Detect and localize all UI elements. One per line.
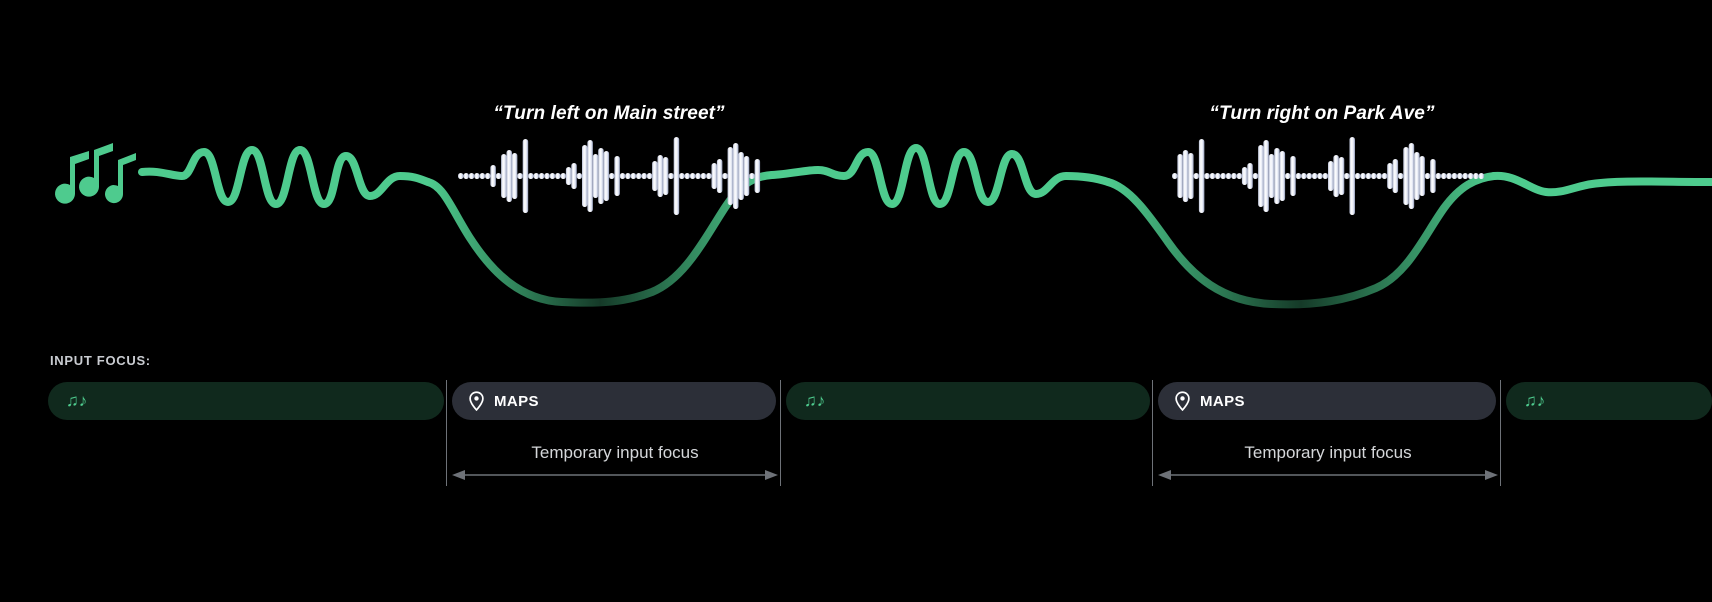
caption-left: “Turn left on Main street” bbox=[493, 103, 724, 125]
music-notes-icon: ♫♪ bbox=[804, 392, 825, 409]
chip-maps[interactable]: MAPS bbox=[1158, 382, 1496, 420]
wave-segment-active-1 bbox=[142, 150, 428, 204]
chip-maps-label: MAPS bbox=[1200, 393, 1245, 410]
speech-bars-group-1 bbox=[458, 137, 760, 215]
input-focus-heading: INPUT FOCUS: bbox=[50, 353, 151, 368]
temporary-input-focus-arrow bbox=[1158, 468, 1498, 482]
temporary-input-focus-arrow bbox=[452, 468, 778, 482]
map-pin-icon bbox=[1174, 391, 1191, 411]
focus-boundary-divider bbox=[1500, 380, 1501, 486]
caption-right: “Turn right on Park Ave” bbox=[1209, 103, 1434, 125]
temporary-input-focus-label: Temporary input focus bbox=[1244, 443, 1411, 463]
speech-bars-group-2 bbox=[1172, 137, 1484, 215]
illustration-canvas: “Turn left on Main street” “Turn right o… bbox=[0, 0, 1712, 602]
chip-maps-label: MAPS bbox=[494, 393, 539, 410]
map-pin-icon bbox=[468, 391, 485, 411]
chip-music[interactable]: ♫♪ bbox=[1506, 382, 1712, 420]
chip-maps[interactable]: MAPS bbox=[452, 382, 776, 420]
chip-music[interactable]: ♫♪ bbox=[48, 382, 444, 420]
music-notes-icon: ♫♪ bbox=[1524, 392, 1545, 409]
chip-music[interactable]: ♫♪ bbox=[786, 382, 1150, 420]
wave-segment-ducked-2 bbox=[1108, 176, 1494, 304]
focus-boundary-divider bbox=[780, 380, 781, 486]
focus-boundary-divider bbox=[446, 380, 447, 486]
input-focus-track: ♫♪MAPS♫♪MAPS♫♪ bbox=[0, 382, 1712, 420]
music-notes-icon: ♫♪ bbox=[66, 392, 87, 409]
wave-segment-active-3 bbox=[1494, 176, 1712, 192]
audio-waveform-graphic bbox=[0, 0, 1712, 330]
wave-segment-active-2 bbox=[772, 148, 1108, 204]
temporary-input-focus-label: Temporary input focus bbox=[531, 443, 698, 463]
music-notes-icon bbox=[55, 143, 136, 204]
focus-boundary-divider bbox=[1152, 380, 1153, 486]
